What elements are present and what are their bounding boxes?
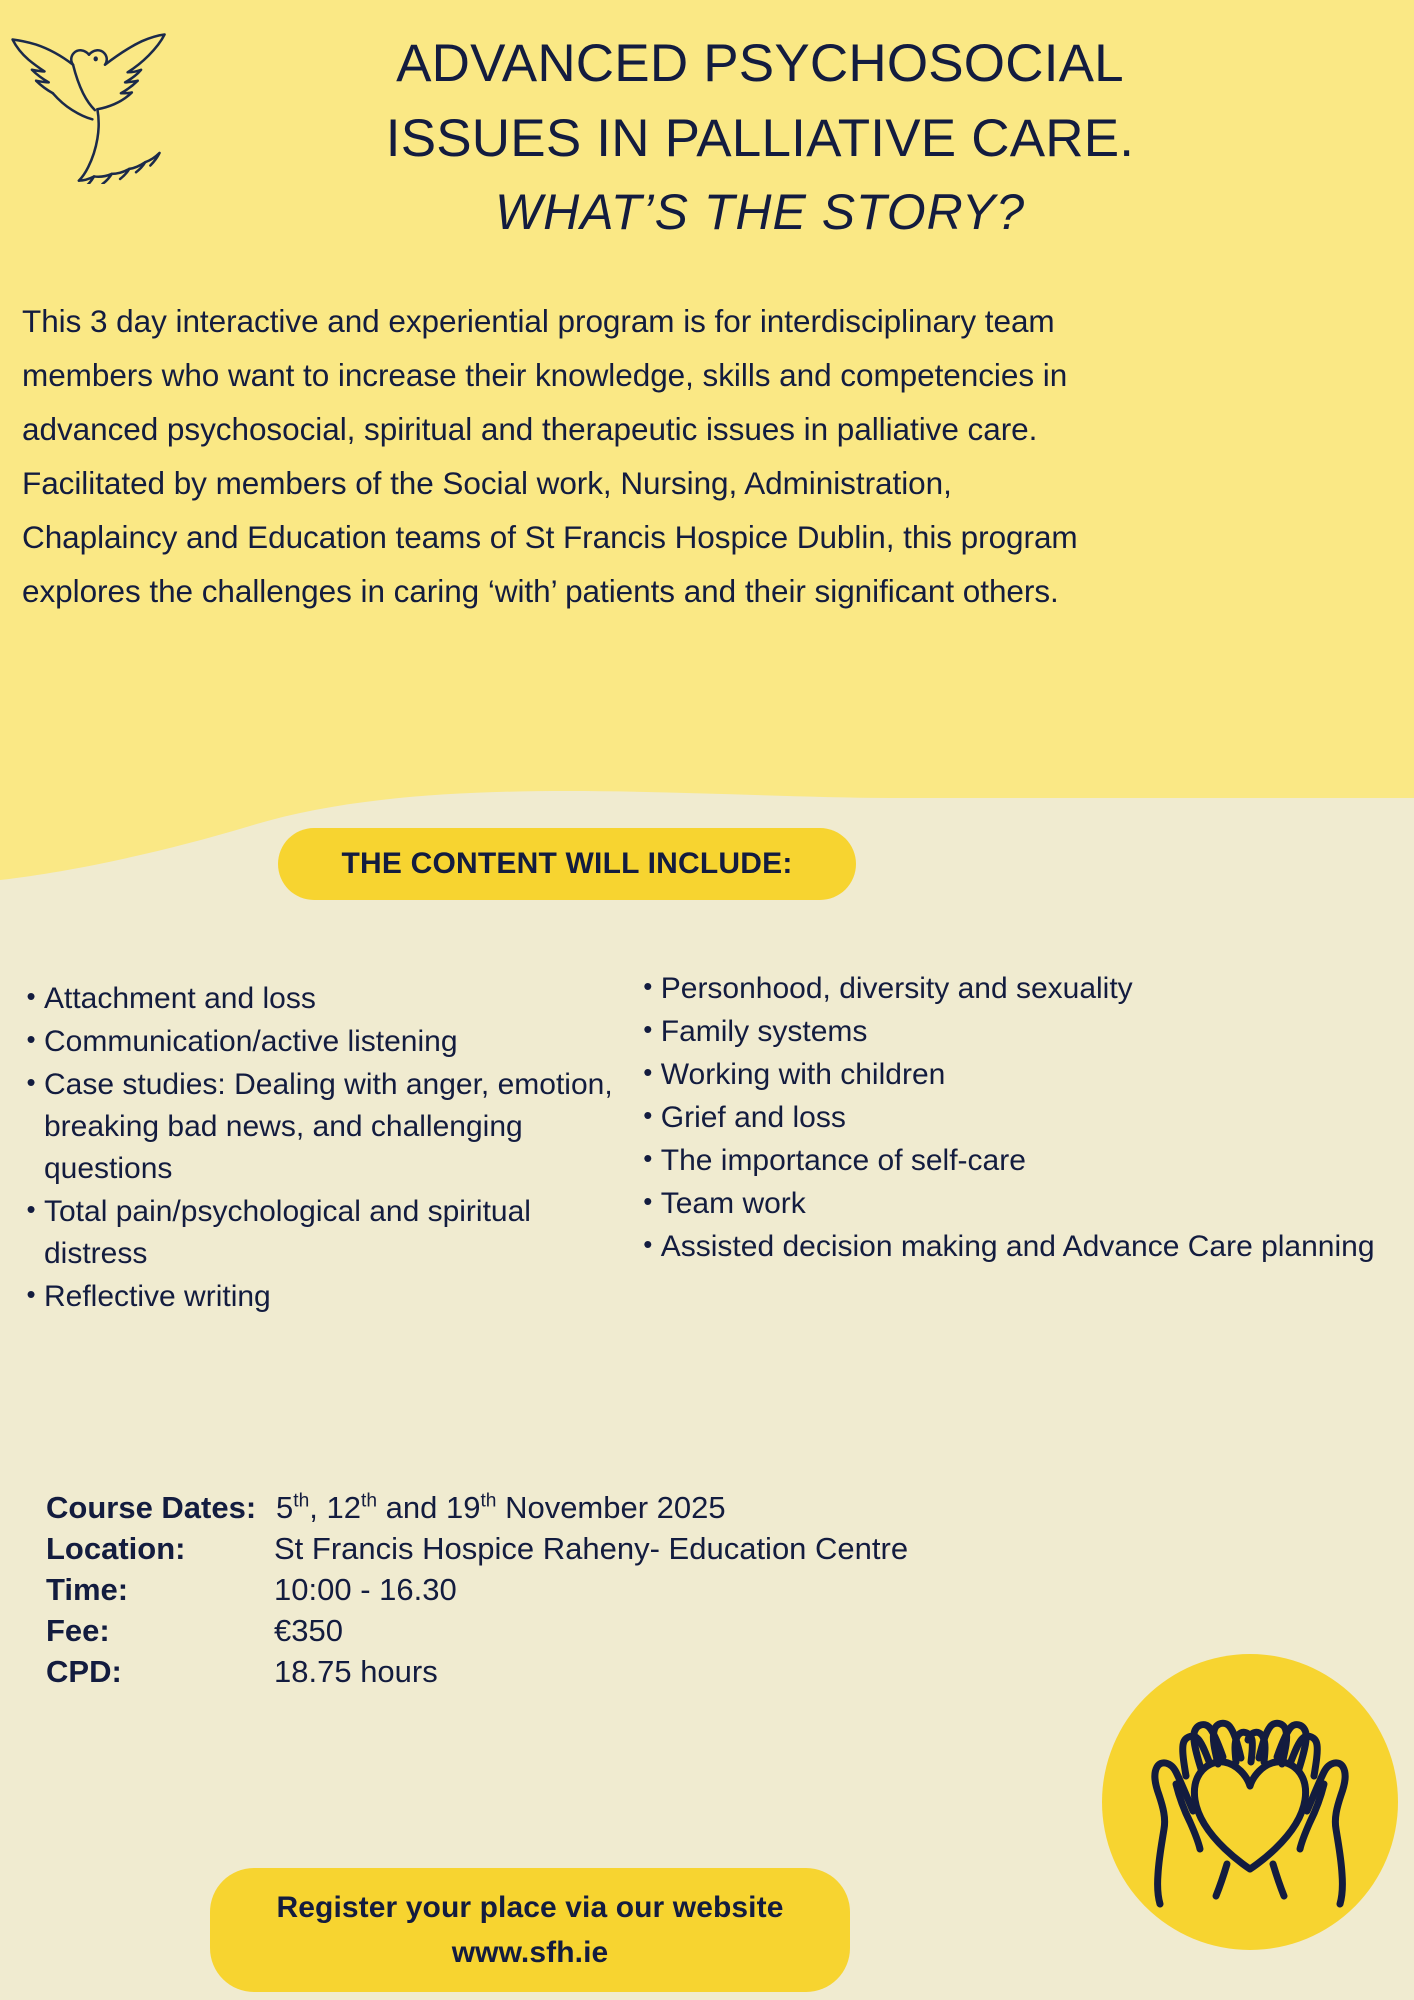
- bullet-right-label: Grief and loss: [661, 1097, 1414, 1139]
- date-1-suffix: th: [293, 1491, 309, 1512]
- content-banner-label: THE CONTENT WILL INCLUDE:: [341, 847, 792, 881]
- bullet-right-label: Personhood, diversity and sexuality: [661, 968, 1414, 1010]
- detail-row-fee: Fee: €350: [46, 1611, 908, 1652]
- bullet-dot-icon: •: [18, 1191, 44, 1229]
- date-3: 19: [446, 1490, 480, 1525]
- title-line-1: ADVANCED PSYCHOSOCIAL: [180, 26, 1340, 101]
- content-bullet-columns: •Attachment and loss•Communication/activ…: [0, 978, 1414, 1319]
- register-button[interactable]: Register your place via our website www.…: [210, 1868, 850, 1992]
- detail-label-course-dates: Course Dates:: [46, 1488, 276, 1529]
- bullet-right-item: •Personhood, diversity and sexuality: [631, 968, 1414, 1010]
- date-sep-1: ,: [309, 1490, 326, 1525]
- bullet-right-item: •Grief and loss: [631, 1097, 1414, 1139]
- bullet-left-label: Case studies: Dealing with anger, emotio…: [44, 1064, 629, 1190]
- bullet-left-item: •Case studies: Dealing with anger, emoti…: [18, 1064, 629, 1190]
- detail-value-time: 10:00 - 16.30: [274, 1570, 457, 1611]
- bullet-right-item: •Assisted decision making and Advance Ca…: [631, 1226, 1414, 1268]
- bullet-column-left: •Attachment and loss•Communication/activ…: [0, 978, 629, 1319]
- bullet-dot-icon: •: [18, 1021, 44, 1059]
- bullet-dot-icon: •: [635, 1183, 661, 1221]
- bullet-left-label: Total pain/psychological and spiritual d…: [44, 1191, 629, 1275]
- bullet-left-item: •Attachment and loss: [18, 978, 629, 1020]
- bullet-right-label: Assisted decision making and Advance Car…: [661, 1226, 1414, 1268]
- detail-value-course-dates: 5th, 12th and 19th November 2025: [276, 1488, 726, 1529]
- detail-value-location: St Francis Hospice Raheny- Education Cen…: [274, 1529, 908, 1570]
- bullet-right-label: Team work: [661, 1183, 1414, 1225]
- detail-row-course-dates: Course Dates: 5th, 12th and 19th Novembe…: [46, 1488, 908, 1529]
- bullet-right-item: •Team work: [631, 1183, 1414, 1225]
- content-banner: THE CONTENT WILL INCLUDE:: [278, 828, 856, 900]
- poster-root: ADVANCED PSYCHOSOCIAL ISSUES IN PALLIATI…: [0, 0, 1414, 2000]
- title-line-2: ISSUES IN PALLIATIVE CARE.: [180, 101, 1340, 176]
- bullet-dot-icon: •: [635, 1140, 661, 1178]
- detail-label-time: Time:: [46, 1570, 274, 1611]
- bullet-left-item: •Reflective writing: [18, 1276, 629, 1318]
- bullet-dot-icon: •: [635, 968, 661, 1006]
- detail-value-cpd: 18.75 hours: [274, 1652, 438, 1693]
- bullet-right-item: •Family systems: [631, 1011, 1414, 1053]
- bullet-dot-icon: •: [635, 1226, 661, 1264]
- bullet-column-right: •Personhood, diversity and sexuality•Fam…: [629, 968, 1414, 1269]
- detail-row-cpd: CPD: 18.75 hours: [46, 1652, 908, 1693]
- bullet-dot-icon: •: [18, 978, 44, 1016]
- bullet-dot-icon: •: [635, 1097, 661, 1135]
- bullet-right-label: Working with children: [661, 1054, 1414, 1096]
- intro-paragraph: This 3 day interactive and experiential …: [22, 294, 1094, 619]
- detail-value-fee: €350: [274, 1611, 343, 1652]
- bullet-dot-icon: •: [635, 1011, 661, 1049]
- date-1: 5: [276, 1490, 293, 1525]
- logo-circle-background: [1102, 1654, 1398, 1950]
- bullet-right-label: Family systems: [661, 1011, 1414, 1053]
- date-2-suffix: th: [361, 1491, 377, 1512]
- date-sep-2: and: [377, 1490, 446, 1525]
- register-website-link[interactable]: www.sfh.ie: [452, 1930, 609, 1975]
- bullet-right-label: The importance of self-care: [661, 1140, 1414, 1182]
- title-subtitle: WHAT’S THE STORY?: [180, 177, 1340, 248]
- bullet-left-label: Attachment and loss: [44, 978, 629, 1020]
- date-tail: November 2025: [496, 1490, 725, 1525]
- title-block: ADVANCED PSYCHOSOCIAL ISSUES IN PALLIATI…: [180, 26, 1340, 248]
- detail-label-fee: Fee:: [46, 1611, 274, 1652]
- date-3-suffix: th: [480, 1491, 496, 1512]
- bullet-dot-icon: •: [18, 1276, 44, 1314]
- bullet-right-item: •The importance of self-care: [631, 1140, 1414, 1182]
- date-2: 12: [327, 1490, 361, 1525]
- bullet-left-label: Communication/active listening: [44, 1021, 629, 1063]
- detail-label-location: Location:: [46, 1529, 274, 1570]
- bullet-left-label: Reflective writing: [44, 1276, 629, 1318]
- bullet-right-item: •Working with children: [631, 1054, 1414, 1096]
- bullet-dot-icon: •: [635, 1054, 661, 1092]
- register-line-1: Register your place via our website: [276, 1885, 783, 1930]
- detail-row-time: Time: 10:00 - 16.30: [46, 1570, 908, 1611]
- bullet-left-item: •Communication/active listening: [18, 1021, 629, 1063]
- bullet-dot-icon: •: [18, 1064, 44, 1102]
- detail-row-location: Location: St Francis Hospice Raheny- Edu…: [46, 1529, 908, 1570]
- dove-icon: [4, 16, 174, 184]
- course-details: Course Dates: 5th, 12th and 19th Novembe…: [46, 1488, 908, 1693]
- bullet-left-item: •Total pain/psychological and spiritual …: [18, 1191, 629, 1275]
- detail-label-cpd: CPD:: [46, 1652, 274, 1693]
- hands-holding-heart-icon: [1100, 1652, 1400, 1952]
